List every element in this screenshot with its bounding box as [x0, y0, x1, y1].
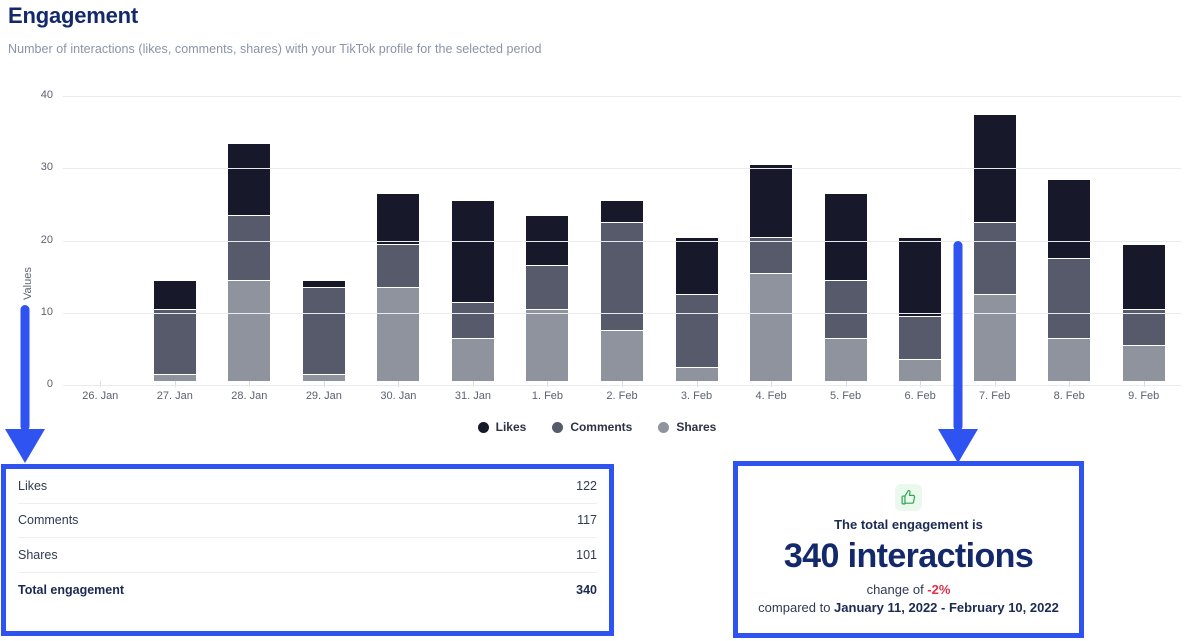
- x-axis-tick: 3. Feb: [681, 390, 712, 402]
- gridline: [63, 96, 1181, 97]
- bar-column[interactable]: 30. Jan: [361, 92, 436, 381]
- header: Engagement Number of interactions (likes…: [8, 2, 542, 58]
- x-axis-tickmark: [324, 381, 325, 387]
- table-row-label: Total engagement: [18, 583, 124, 597]
- y-axis-title: Values: [22, 267, 34, 300]
- bar-column[interactable]: 2. Feb: [585, 92, 660, 381]
- bar-segment-shares[interactable]: [1048, 338, 1090, 381]
- bar-column[interactable]: 8. Feb: [1032, 92, 1107, 381]
- bar-series-container: 26. Jan27. Jan28. Jan29. Jan30. Jan31. J…: [63, 92, 1181, 381]
- bar-stack[interactable]: [1048, 179, 1090, 381]
- engagement-panel: Engagement Number of interactions (likes…: [0, 0, 1194, 641]
- bar-stack[interactable]: [303, 280, 345, 381]
- bar-segment-comments[interactable]: [377, 244, 419, 287]
- bar-segment-comments[interactable]: [825, 280, 867, 338]
- x-axis-tickmark: [398, 381, 399, 387]
- bar-segment-comments[interactable]: [1123, 309, 1165, 345]
- legend-label: Likes: [496, 420, 527, 434]
- bar-segment-shares[interactable]: [303, 374, 345, 381]
- bar-segment-comments[interactable]: [750, 237, 792, 273]
- x-axis-tickmark: [846, 381, 847, 387]
- bar-segment-shares[interactable]: [974, 294, 1016, 381]
- bar-segment-shares[interactable]: [154, 374, 196, 381]
- bar-segment-likes[interactable]: [452, 200, 494, 301]
- x-axis-tick: 8. Feb: [1054, 390, 1085, 402]
- summary-change: change of -2%: [867, 582, 951, 597]
- bar-stack[interactable]: [899, 237, 941, 381]
- bar-column[interactable]: 5. Feb: [808, 92, 883, 381]
- bar-segment-shares[interactable]: [601, 330, 643, 381]
- bar-column[interactable]: 9. Feb: [1106, 92, 1181, 381]
- engagement-summary-card: The total engagement is 340 interactions…: [733, 461, 1084, 638]
- table-row-value: 340: [576, 583, 597, 597]
- x-axis-tick: 1. Feb: [532, 390, 563, 402]
- summary-compare: compared to January 11, 2022 - February …: [758, 600, 1059, 615]
- table-row-label: Likes: [18, 479, 47, 493]
- x-axis-tick: 7. Feb: [979, 390, 1010, 402]
- x-axis-tickmark: [473, 381, 474, 387]
- x-axis-tick: 26. Jan: [82, 390, 118, 402]
- bar-stack[interactable]: [601, 200, 643, 381]
- bar-segment-likes[interactable]: [377, 193, 419, 244]
- bar-stack[interactable]: [228, 143, 270, 381]
- bar-segment-shares[interactable]: [228, 280, 270, 381]
- legend-label: Comments: [570, 420, 632, 434]
- table-row-label: Shares: [18, 548, 58, 562]
- bar-column[interactable]: 3. Feb: [659, 92, 734, 381]
- x-axis-tickmark: [920, 381, 921, 387]
- x-axis-tick: 27. Jan: [157, 390, 193, 402]
- x-axis-tick: 31. Jan: [455, 390, 491, 402]
- bar-segment-comments[interactable]: [974, 222, 1016, 294]
- table-row: Shares101: [18, 538, 597, 573]
- bar-segment-shares[interactable]: [526, 309, 568, 381]
- x-axis-tick: 2. Feb: [606, 390, 637, 402]
- y-axis-tick: 20: [13, 234, 53, 246]
- bar-segment-likes[interactable]: [825, 193, 867, 280]
- x-axis-tickmark: [1144, 381, 1145, 387]
- bar-segment-comments[interactable]: [452, 302, 494, 338]
- x-axis-tick: 30. Jan: [380, 390, 416, 402]
- bar-column[interactable]: 4. Feb: [734, 92, 809, 381]
- bar-stack[interactable]: [825, 193, 867, 381]
- bar-column[interactable]: 31. Jan: [436, 92, 511, 381]
- chart-plot-area: 26. Jan27. Jan28. Jan29. Jan30. Jan31. J…: [63, 96, 1181, 471]
- chart-legend: LikesCommentsShares: [0, 420, 1194, 434]
- bar-segment-likes[interactable]: [1123, 244, 1165, 309]
- bar-stack[interactable]: [676, 237, 718, 381]
- bar-segment-likes[interactable]: [303, 280, 345, 287]
- summary-lead-text: The total engagement is: [834, 517, 983, 532]
- bar-column[interactable]: 27. Jan: [138, 92, 213, 381]
- gridline: [63, 313, 1181, 314]
- bar-stack[interactable]: [750, 164, 792, 381]
- bar-segment-shares[interactable]: [452, 338, 494, 381]
- bar-segment-shares[interactable]: [825, 338, 867, 381]
- bar-segment-comments[interactable]: [601, 222, 643, 330]
- legend-swatch-icon: [658, 422, 669, 433]
- gridline: [63, 168, 1181, 169]
- bar-stack[interactable]: [452, 200, 494, 381]
- bar-column[interactable]: 1. Feb: [510, 92, 585, 381]
- bar-stack[interactable]: [377, 193, 419, 381]
- bar-segment-likes[interactable]: [228, 143, 270, 215]
- bar-segment-likes[interactable]: [899, 237, 941, 316]
- x-axis-tickmark: [547, 381, 548, 387]
- bar-segment-shares[interactable]: [676, 367, 718, 381]
- x-axis-tickmark: [622, 381, 623, 387]
- legend-item-likes[interactable]: Likes: [478, 420, 527, 434]
- bar-segment-likes[interactable]: [154, 280, 196, 309]
- legend-swatch-icon: [552, 422, 563, 433]
- y-axis-tick: 40: [13, 89, 53, 101]
- x-axis-tick: 29. Jan: [306, 390, 342, 402]
- x-axis-tickmark: [175, 381, 176, 387]
- bar-column[interactable]: 26. Jan: [63, 92, 138, 381]
- summary-compare-range: January 11, 2022 - February 10, 2022: [834, 600, 1059, 615]
- table-row: Likes122: [18, 469, 597, 504]
- table-row-total: Total engagement340: [18, 573, 597, 608]
- bar-segment-comments[interactable]: [899, 316, 941, 359]
- table-row: Comments117: [18, 504, 597, 539]
- x-axis-tickmark: [697, 381, 698, 387]
- x-axis-tickmark: [995, 381, 996, 387]
- bar-segment-shares[interactable]: [377, 287, 419, 381]
- x-axis-tickmark: [1069, 381, 1070, 387]
- page-subtitle: Number of interactions (likes, comments,…: [8, 40, 542, 58]
- x-axis-tick: 4. Feb: [755, 390, 786, 402]
- engagement-breakdown-table: Likes122Comments117Shares101Total engage…: [1, 464, 614, 636]
- arrow-to-summary-card: [938, 241, 978, 463]
- bar-stack[interactable]: [154, 280, 196, 381]
- arrow-to-breakdown-table: [5, 305, 45, 463]
- bar-segment-shares[interactable]: [1123, 345, 1165, 381]
- x-axis-tick: 9. Feb: [1128, 390, 1159, 402]
- summary-change-value: -2%: [927, 582, 950, 597]
- table-body: Likes122Comments117Shares101Total engage…: [6, 469, 609, 607]
- gridline: [63, 385, 1181, 386]
- bar-segment-comments[interactable]: [228, 215, 270, 280]
- bar-segment-likes[interactable]: [676, 237, 718, 295]
- summary-headline: 340 interactions: [784, 534, 1033, 578]
- bar-segment-shares[interactable]: [899, 359, 941, 381]
- table-row-label: Comments: [18, 513, 78, 527]
- legend-swatch-icon: [478, 422, 489, 433]
- bar-segment-comments[interactable]: [303, 287, 345, 374]
- bar-segment-likes[interactable]: [1048, 179, 1090, 258]
- x-axis-tickmark: [249, 381, 250, 387]
- bar-column[interactable]: 28. Jan: [212, 92, 287, 381]
- table-row-value: 101: [576, 548, 597, 562]
- page-title: Engagement: [8, 2, 542, 30]
- bar-segment-likes[interactable]: [750, 164, 792, 236]
- bar-segment-comments[interactable]: [526, 265, 568, 308]
- legend-item-shares[interactable]: Shares: [658, 420, 716, 434]
- bar-segment-comments[interactable]: [1048, 258, 1090, 337]
- table-row-value: 117: [577, 513, 597, 527]
- x-axis-tickmark: [100, 381, 101, 387]
- bar-column[interactable]: 29. Jan: [287, 92, 362, 381]
- x-axis-tickmark: [771, 381, 772, 387]
- x-axis-tick: 6. Feb: [905, 390, 936, 402]
- bar-segment-comments[interactable]: [154, 309, 196, 374]
- bar-stack[interactable]: [974, 114, 1016, 381]
- summary-change-prefix: change of: [867, 582, 928, 597]
- thumbs-up-icon: [895, 484, 922, 511]
- bar-segment-likes[interactable]: [601, 200, 643, 222]
- bar-segment-shares[interactable]: [750, 273, 792, 381]
- bar-segment-comments[interactable]: [676, 294, 718, 366]
- legend-item-comments[interactable]: Comments: [552, 420, 632, 434]
- y-axis-tick: 30: [13, 161, 53, 173]
- table-row-value: 122: [576, 479, 597, 493]
- engagement-chart: Values 26. Jan27. Jan28. Jan29. Jan30. J…: [0, 82, 1194, 447]
- x-axis-tick: 5. Feb: [830, 390, 861, 402]
- x-axis-tick: 28. Jan: [231, 390, 267, 402]
- summary-compare-prefix: compared to: [758, 600, 834, 615]
- gridline: [63, 241, 1181, 242]
- legend-label: Shares: [676, 420, 716, 434]
